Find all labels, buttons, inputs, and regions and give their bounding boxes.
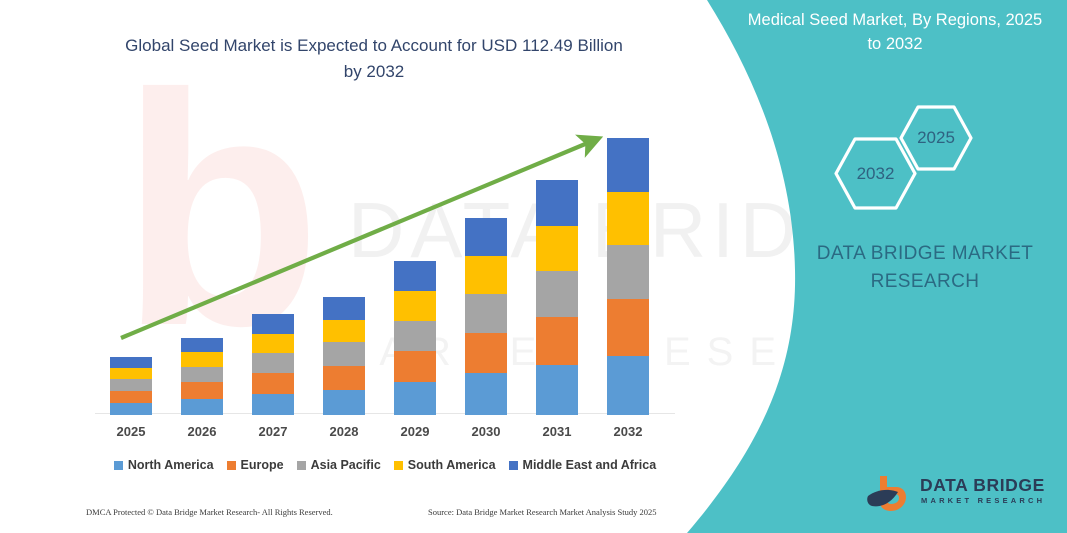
logo-wordmark: DATA BRIDGE <box>920 475 1045 496</box>
bar-segment-asia-pacific <box>323 342 365 365</box>
chart-title: Global Seed Market is Expected to Accoun… <box>120 33 628 85</box>
bar-segment-europe <box>110 391 152 403</box>
panel-title: Medical Seed Market, By Regions, 2025 to… <box>740 8 1050 56</box>
bar-segment-north-america <box>536 365 578 415</box>
bar-segment-asia-pacific <box>465 294 507 332</box>
chart-x-axis-labels: 20252026202720282029203020312032 <box>95 424 675 446</box>
x-axis-label-2028: 2028 <box>314 424 374 439</box>
bar-segment-north-america <box>110 403 152 415</box>
bar-segment-asia-pacific <box>252 353 294 373</box>
bar-segment-asia-pacific <box>110 379 152 390</box>
bar-segment-middle-east-and-africa <box>110 357 152 368</box>
bar-segment-europe <box>465 333 507 374</box>
bar-segment-north-america <box>252 394 294 415</box>
bar-segment-middle-east-and-africa <box>536 180 578 226</box>
data-bridge-logo: DATA BRIDGE MARKET RESEARCH <box>866 472 1046 518</box>
legend-item-north-america[interactable]: North America <box>114 458 214 472</box>
bar-segment-north-america <box>323 390 365 415</box>
bar-segment-south-america <box>181 352 223 367</box>
bar-segment-north-america <box>394 382 436 415</box>
bar-2027 <box>252 314 294 415</box>
bar-segment-middle-east-and-africa <box>394 261 436 291</box>
x-axis-label-2026: 2026 <box>172 424 232 439</box>
bar-segment-europe <box>394 351 436 383</box>
bar-segment-asia-pacific <box>181 367 223 382</box>
bar-segment-europe <box>323 366 365 390</box>
bar-segment-europe <box>252 373 294 394</box>
legend-label: North America <box>128 458 214 472</box>
bar-2030 <box>465 218 507 415</box>
legend-label: South America <box>408 458 496 472</box>
bar-segment-north-america <box>465 373 507 415</box>
bar-segment-asia-pacific <box>536 271 578 317</box>
legend-item-europe[interactable]: Europe <box>227 458 284 472</box>
legend-swatch-icon <box>394 461 403 470</box>
legend-label: Asia Pacific <box>311 458 381 472</box>
legend-swatch-icon <box>509 461 518 470</box>
bar-segment-south-america <box>465 256 507 294</box>
bar-2026 <box>181 338 223 415</box>
legend-swatch-icon <box>227 461 236 470</box>
legend-item-middle-east-and-africa[interactable]: Middle East and Africa <box>509 458 657 472</box>
x-axis-label-2029: 2029 <box>385 424 445 439</box>
footer-source: Source: Data Bridge Market Research Mark… <box>428 507 657 517</box>
x-axis-label-2025: 2025 <box>101 424 161 439</box>
bar-segment-middle-east-and-africa <box>181 338 223 353</box>
hexagon-2025-label: 2025 <box>898 104 974 172</box>
bar-2025 <box>110 357 152 415</box>
bar-segment-south-america <box>110 368 152 379</box>
bar-segment-middle-east-and-africa <box>252 314 294 333</box>
bar-segment-south-america <box>323 320 365 343</box>
bar-segment-middle-east-and-africa <box>465 218 507 256</box>
bar-segment-middle-east-and-africa <box>323 297 365 320</box>
logo-b-mark <box>866 472 916 516</box>
legend-swatch-icon <box>297 461 306 470</box>
bar-segment-south-america <box>394 291 436 320</box>
bar-2032 <box>607 138 649 415</box>
legend-item-asia-pacific[interactable]: Asia Pacific <box>297 458 381 472</box>
bar-segment-south-america <box>536 226 578 271</box>
bar-segment-asia-pacific <box>394 321 436 351</box>
bar-segment-north-america <box>181 399 223 415</box>
bar-2028 <box>323 297 365 415</box>
bar-segment-south-america <box>252 334 294 353</box>
panel-brand-block: DATA BRIDGE MARKET RESEARCH <box>760 240 1067 296</box>
bar-segment-asia-pacific <box>607 245 649 299</box>
x-axis-label-2031: 2031 <box>527 424 587 439</box>
bar-segment-europe <box>607 299 649 356</box>
x-axis-label-2030: 2030 <box>456 424 516 439</box>
chart-plot-area <box>95 120 675 415</box>
chart-legend: North AmericaEuropeAsia PacificSouth Ame… <box>95 455 675 475</box>
panel-brand-line-1: DATA BRIDGE MARKET <box>760 240 1067 268</box>
legend-label: Europe <box>241 458 284 472</box>
legend-label: Middle East and Africa <box>523 458 657 472</box>
legend-item-south-america[interactable]: South America <box>394 458 496 472</box>
bar-2029 <box>394 261 436 415</box>
panel-brand-line-2: RESEARCH <box>760 268 1067 296</box>
x-axis-label-2027: 2027 <box>243 424 303 439</box>
bar-segment-north-america <box>607 356 649 415</box>
infographic-root: b DATA BRIDGE MARKET RESEARCH Global See… <box>0 0 1067 533</box>
legend-swatch-icon <box>114 461 123 470</box>
logo-tagline: MARKET RESEARCH <box>921 496 1045 505</box>
bar-segment-europe <box>181 382 223 398</box>
bar-segment-europe <box>536 317 578 365</box>
bar-segment-south-america <box>607 192 649 245</box>
bar-2031 <box>536 180 578 415</box>
footer-copyright: DMCA Protected © Data Bridge Market Rese… <box>86 507 333 517</box>
bar-segment-middle-east-and-africa <box>607 138 649 192</box>
hexagon-2025: 2025 <box>898 104 974 172</box>
